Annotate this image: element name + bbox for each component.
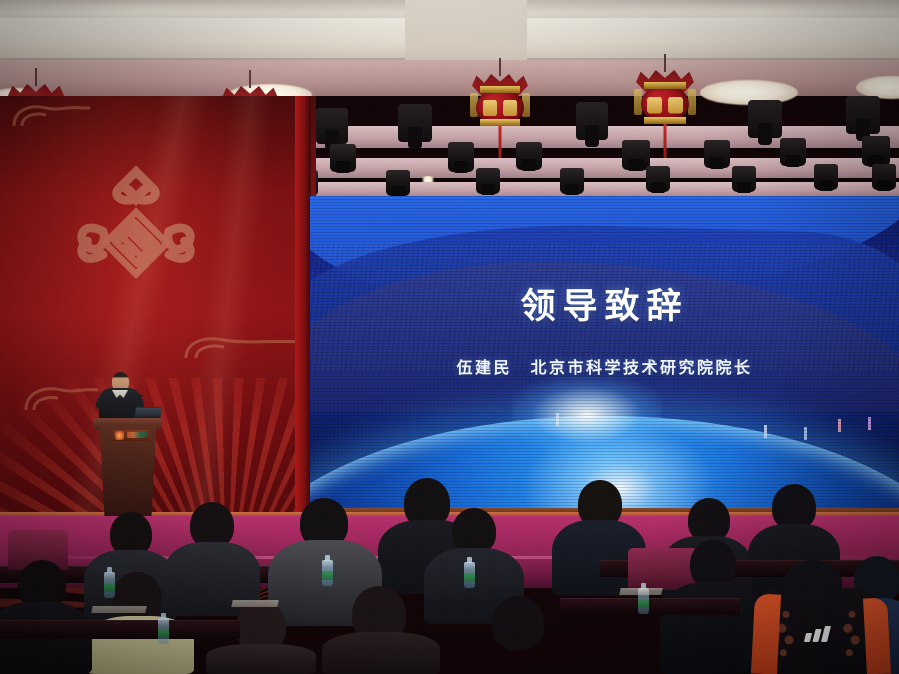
backdrop-edge-strip xyxy=(295,96,311,548)
stage-light xyxy=(576,102,608,140)
stage-light xyxy=(316,108,348,144)
red-lantern xyxy=(472,74,528,136)
cloud-motif-right xyxy=(180,328,310,368)
audience-head xyxy=(690,540,736,588)
water-bottle xyxy=(322,560,333,586)
cloud-motif-top-left xyxy=(8,98,94,132)
bottle-label xyxy=(638,599,649,608)
podium-logo xyxy=(127,432,147,438)
ceiling-drop-panel xyxy=(405,0,527,60)
bottle-label xyxy=(158,629,169,638)
stage-light xyxy=(780,138,806,166)
conference-hall-photo: 领导致辞 伍建民 北京市科学技术研究院院长 xyxy=(0,0,899,674)
audience-desk xyxy=(0,620,240,639)
stage-light xyxy=(872,164,896,190)
lantern-hanger xyxy=(35,68,37,86)
audience-desk xyxy=(560,598,740,615)
red-lantern xyxy=(636,70,694,134)
lantern-side-ornament xyxy=(688,89,696,115)
stage-light xyxy=(560,168,584,194)
red-stage-backdrop xyxy=(0,96,316,548)
stage-light xyxy=(862,136,890,166)
lantern-band xyxy=(644,82,686,89)
slide-title: 领导致辞 xyxy=(310,278,899,329)
chinese-knot-motif xyxy=(48,156,224,306)
audience-head xyxy=(784,560,842,604)
cove-light-left xyxy=(0,4,290,18)
lantern-band xyxy=(480,119,520,126)
laptop-screen xyxy=(135,408,162,417)
three-stripes-logo-icon xyxy=(805,626,835,642)
lantern-side-ornament xyxy=(522,93,530,118)
jacket-embroidery xyxy=(839,604,865,662)
lantern-band xyxy=(644,117,686,124)
podium-emblem-icon xyxy=(115,431,124,440)
jacket-trim-right xyxy=(863,597,891,674)
lantern-hanger xyxy=(249,70,251,88)
stage-light xyxy=(448,142,474,172)
jacket-embroidery xyxy=(773,604,799,662)
lantern-hanger xyxy=(664,54,666,72)
desk-paper xyxy=(91,606,146,613)
bottle-label xyxy=(322,571,333,580)
stage-light xyxy=(516,142,542,170)
lantern-glyph xyxy=(668,97,683,114)
desk-paper xyxy=(619,588,662,595)
lantern-glyph xyxy=(647,97,662,114)
water-bottle xyxy=(104,572,115,598)
stage-light xyxy=(646,166,670,192)
stage-light xyxy=(330,144,356,172)
lantern-band xyxy=(480,86,520,93)
audience-shoulders xyxy=(206,644,316,674)
stage-light xyxy=(704,140,730,168)
led-presentation-screen: 领导致辞 伍建民 北京市科学技术研究院院长 xyxy=(310,196,899,516)
stage-light xyxy=(846,96,880,134)
slide-subtitle: 伍建民 北京市科学技术研究院院长 xyxy=(310,354,899,378)
cove-light-right xyxy=(600,6,899,20)
bottle-label xyxy=(104,583,115,592)
water-bottle xyxy=(158,618,169,644)
desk-paper xyxy=(231,600,278,607)
lantern-hanger xyxy=(499,58,501,76)
stage-light xyxy=(622,140,650,170)
lantern-glyph xyxy=(503,100,518,116)
stage-light xyxy=(476,168,500,194)
bottle-label xyxy=(464,573,475,582)
lantern-glyph xyxy=(483,100,498,116)
audience-shoulders xyxy=(464,642,576,674)
water-bottle xyxy=(464,562,475,588)
stage-light xyxy=(814,164,838,190)
stage-light xyxy=(398,104,432,142)
stage-light xyxy=(748,100,782,138)
stage-light xyxy=(732,166,756,192)
audience-shoulders xyxy=(322,632,440,674)
stage-light xyxy=(386,170,410,196)
